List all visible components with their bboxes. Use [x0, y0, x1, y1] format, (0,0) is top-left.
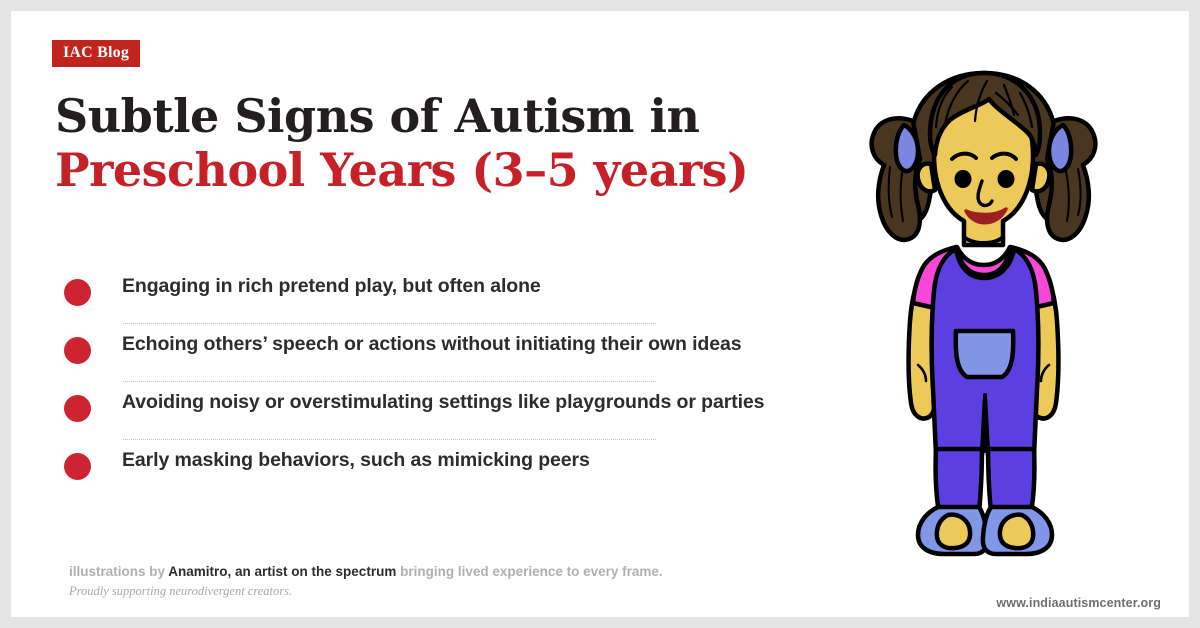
page-title-line-2: Preschool Years (3–5 years) [55, 143, 815, 197]
footer-credit: illustrations by Anamitro, an artist on … [69, 564, 663, 599]
iac-blog-badge: IAC Blog [52, 40, 140, 67]
list-item-label: Echoing others’ speech or actions withou… [122, 333, 741, 356]
credit-prefix: illustrations by [69, 564, 168, 579]
content-card: IAC Blog Subtle Signs of Autism in Presc… [11, 11, 1189, 617]
girl-illustration-svg [856, 59, 1111, 567]
bullet-dot-icon [64, 453, 91, 480]
credit-artist: Anamitro, an artist on the spectrum [168, 564, 396, 579]
girl-standing-illustration [856, 59, 1111, 567]
signs-list: Engaging in rich pretend play, but often… [55, 266, 865, 498]
list-item: Avoiding noisy or overstimulating settin… [55, 382, 865, 440]
bullet-dot-icon [64, 337, 91, 364]
list-item-label: Early masking behaviors, such as mimicki… [122, 449, 590, 472]
list-item: Echoing others’ speech or actions withou… [55, 324, 865, 382]
page-frame: IAC Blog Subtle Signs of Autism in Presc… [0, 0, 1200, 628]
list-item-label: Avoiding noisy or overstimulating settin… [122, 391, 764, 414]
credit-suffix: bringing lived experience to every frame… [396, 564, 662, 579]
list-item: Engaging in rich pretend play, but often… [55, 266, 865, 324]
list-item: Early masking behaviors, such as mimicki… [55, 440, 865, 498]
bullet-dot-icon [64, 279, 91, 306]
page-title: Subtle Signs of Autism in Preschool Year… [55, 89, 815, 198]
bullet-dot-icon [64, 395, 91, 422]
credit-tagline: Proudly supporting neurodivergent creato… [69, 584, 663, 599]
page-title-line-1: Subtle Signs of Autism in [55, 89, 815, 143]
credit-line: illustrations by Anamitro, an artist on … [69, 564, 663, 579]
website-url: www.indiaautismcenter.org [996, 596, 1161, 610]
list-item-label: Engaging in rich pretend play, but often… [122, 275, 541, 298]
